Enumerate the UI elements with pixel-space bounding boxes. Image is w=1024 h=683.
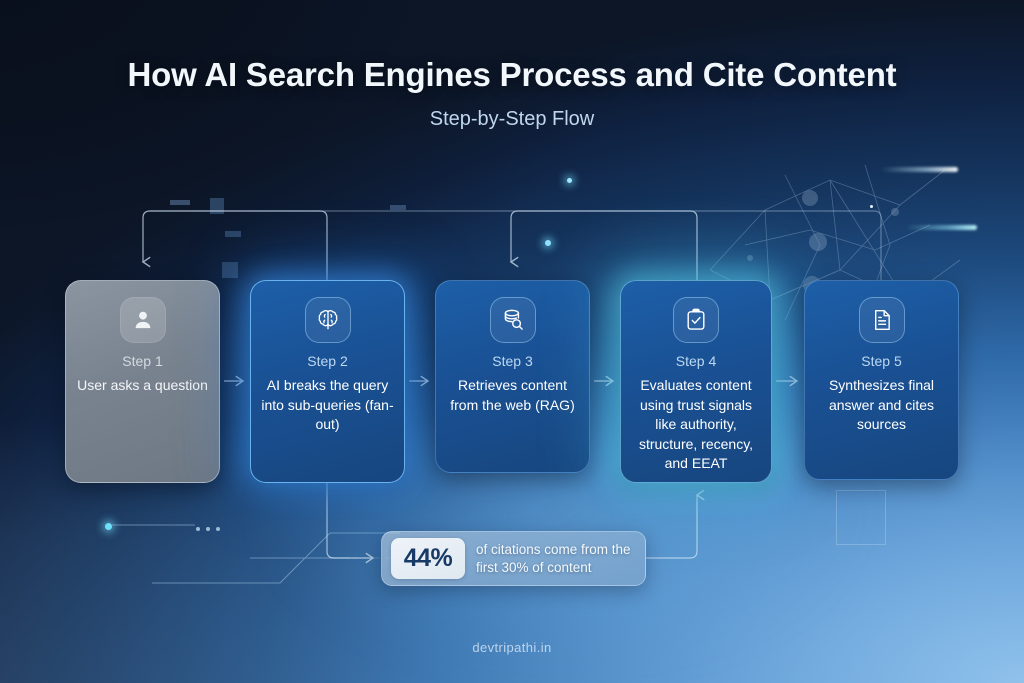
step-card-1[interactable]: Step 1 User asks a question xyxy=(65,280,220,483)
brain-icon xyxy=(305,297,351,343)
stat-value: 44% xyxy=(391,538,465,579)
step-label: Step 1 xyxy=(122,353,162,369)
step-label: Step 4 xyxy=(676,353,716,369)
step-description: Retrieves content from the web (RAG) xyxy=(436,376,589,415)
step-label: Step 3 xyxy=(492,353,532,369)
step-description: User asks a question xyxy=(68,376,217,396)
stat-callout: 44% of citations come from the first 30%… xyxy=(381,531,646,586)
step-card-5[interactable]: Step 5 Synthesizes final answer and cite… xyxy=(804,280,959,480)
clipboard-check-icon xyxy=(673,297,719,343)
step-card-2[interactable]: Step 2 AI breaks the query into sub-quer… xyxy=(250,280,405,483)
stat-description: of citations come from the first 30% of … xyxy=(476,541,636,576)
step-label: Step 5 xyxy=(861,353,901,369)
step-description: Evaluates content using trust signals li… xyxy=(621,376,771,474)
page-title: How AI Search Engines Process and Cite C… xyxy=(0,56,1024,94)
step-description: AI breaks the query into sub-queries (fa… xyxy=(251,376,404,435)
document-icon xyxy=(859,297,905,343)
source-attribution: devtripathi.in xyxy=(0,640,1024,655)
infographic-canvas: Step 1 User asks a question Step 2 AI br… xyxy=(0,0,1024,683)
step-card-4[interactable]: Step 4 Evaluates content using trust sig… xyxy=(620,280,772,483)
step-description: Synthesizes final answer and cites sourc… xyxy=(805,376,958,435)
step-label: Step 2 xyxy=(307,353,347,369)
user-icon xyxy=(120,297,166,343)
step-card-3[interactable]: Step 3 Retrieves content from the web (R… xyxy=(435,280,590,473)
database-search-icon xyxy=(490,297,536,343)
page-subtitle: Step-by-Step Flow xyxy=(0,108,1024,131)
